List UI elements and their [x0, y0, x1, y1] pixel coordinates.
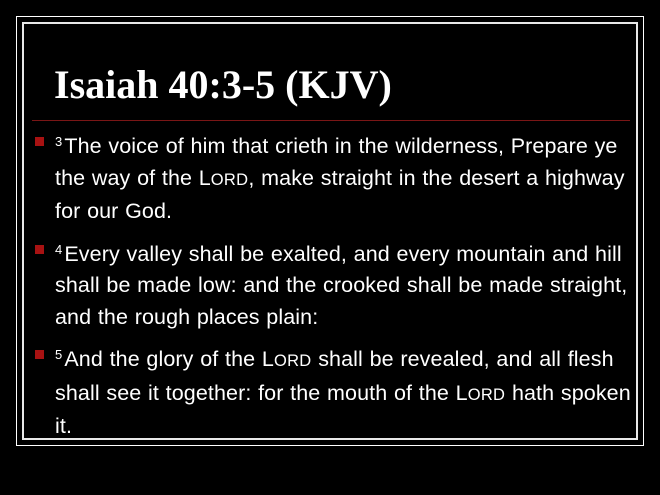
presentation-slide: Isaiah 40:3-5 (KJV) 3The voice of him th…: [0, 0, 660, 495]
verse-text: Every valley shall be exalted, and every…: [55, 242, 627, 329]
verse-number: 3: [55, 134, 64, 149]
divine-name-smallcaps: ORD: [211, 171, 249, 189]
bullet-square-icon: [35, 245, 44, 254]
verse-paragraph-3: 3The voice of him that crieth in the wil…: [32, 126, 632, 228]
bullet-square-icon: [35, 137, 44, 146]
verse-number: 4: [55, 242, 64, 257]
verse-paragraph-5: 5And the glory of the LORD shall be reve…: [32, 339, 632, 443]
slide-body: 3The voice of him that crieth in the wil…: [32, 126, 632, 449]
slide-title: Isaiah 40:3-5 (KJV): [54, 63, 634, 107]
divine-name-initial-2: L: [456, 381, 468, 405]
divine-name-smallcaps: ORD: [274, 352, 312, 370]
divine-name-initial: L: [199, 166, 211, 190]
verse-text-before-lord: And the glory of the: [64, 347, 262, 371]
verse-paragraph-4: 4Every valley shall be exalted, and ever…: [32, 234, 632, 334]
verse-number: 5: [55, 347, 64, 362]
divine-name-initial: L: [262, 347, 274, 371]
bullet-square-icon: [35, 350, 44, 359]
divine-name-smallcaps-2: ORD: [468, 386, 506, 404]
title-divider-rule: [32, 120, 630, 121]
